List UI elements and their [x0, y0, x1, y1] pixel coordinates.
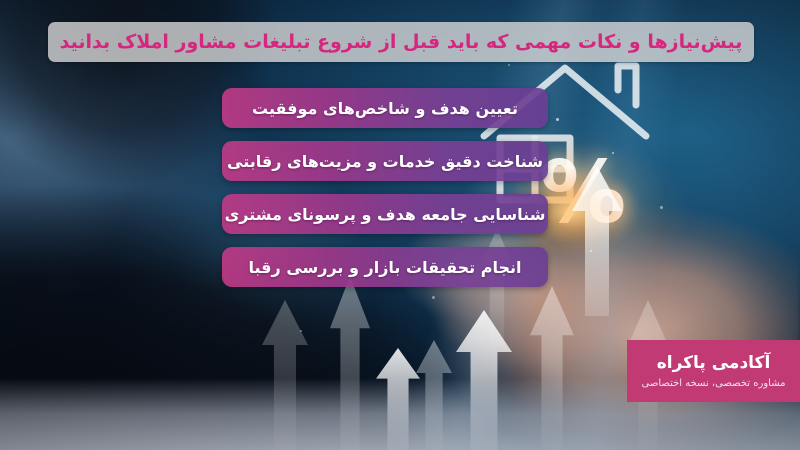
checklist-item-label: شناسایی جامعه هدف و پرسونای مشتری — [225, 205, 546, 224]
checklist-item: تعیین هدف و شاخص‌های موفقیت — [222, 88, 548, 128]
brand-block: آکادمی پاکراه مشاوره تخصصی، نسخه اختصاصی — [627, 340, 800, 402]
headline-bar: پیش‌نیازها و نکات مهمی که باید قبل از شر… — [48, 22, 754, 62]
brand-tagline: مشاوره تخصصی، نسخه اختصاصی — [642, 378, 786, 389]
brand-name: آکادمی پاکراه — [657, 353, 771, 373]
checklist-item: شناسایی جامعه هدف و پرسونای مشتری — [222, 194, 548, 234]
checklist-item-label: تعیین هدف و شاخص‌های موفقیت — [252, 99, 518, 118]
headline-text: پیش‌نیازها و نکات مهمی که باید قبل از شر… — [60, 31, 743, 53]
checklist-item-label: انجام تحقیقات بازار و بررسی رقبا — [249, 258, 522, 277]
checklist-item: شناخت دقیق خدمات و مزیت‌های رقابتی — [222, 141, 548, 181]
checklist-item-label: شناخت دقیق خدمات و مزیت‌های رقابتی — [227, 152, 543, 171]
infographic-banner: % پیش‌نیازها و نکات مهمی که باید قبل از … — [0, 0, 800, 450]
checklist-item: انجام تحقیقات بازار و بررسی رقبا — [222, 247, 548, 287]
